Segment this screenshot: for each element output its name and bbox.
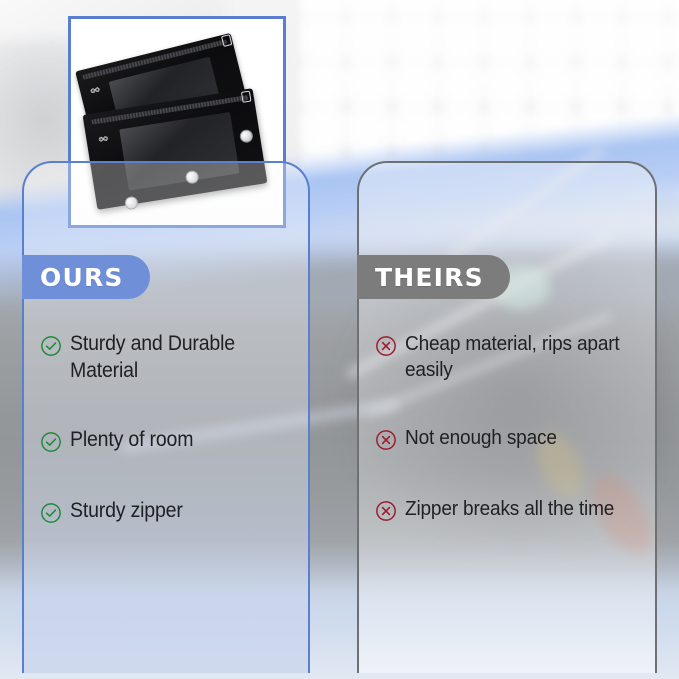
badge-ours: OURS [22, 255, 150, 299]
cross-circle-icon [375, 429, 397, 451]
check-circle-icon [40, 431, 62, 453]
feature-item: Sturdy and Durable Material [40, 331, 298, 385]
brand-logo-back: ❂❂ [90, 86, 100, 95]
feature-item: Not enough space [375, 425, 645, 451]
feature-item: Sturdy zipper [40, 498, 298, 525]
check-circle-icon [40, 502, 62, 524]
feature-label: Not enough space [405, 425, 557, 451]
zipper-pull-front [241, 91, 252, 103]
brand-logo-front: ❂❂ [98, 135, 108, 143]
feature-label: Plenty of room [70, 427, 193, 454]
comparison-card-theirs: THEIRS Cheap material, rips apart easily [357, 161, 657, 673]
cross-circle-icon [375, 335, 397, 357]
zipper-pull-back [221, 34, 232, 47]
feature-label: Zipper breaks all the time [405, 496, 614, 522]
feature-item: Cheap material, rips apart easily [375, 331, 645, 383]
comparison-infographic: ❂❂ ❂❂ OURS Sturdy and Du [0, 0, 679, 679]
check-circle-icon [40, 335, 62, 357]
badge-ours-label: OURS [40, 263, 124, 292]
feature-list-ours: Sturdy and Durable Material Plenty of ro… [40, 331, 298, 525]
feature-item: Plenty of room [40, 427, 298, 454]
feature-label: Sturdy and Durable Material [70, 331, 282, 385]
comparison-card-ours: OURS Sturdy and Durable Material [22, 161, 310, 673]
grommet-right [239, 129, 254, 144]
feature-label: Cheap material, rips apart easily [405, 331, 628, 383]
feature-list-theirs: Cheap material, rips apart easily Not en… [375, 331, 645, 522]
feature-item: Zipper breaks all the time [375, 496, 645, 522]
badge-theirs: THEIRS [357, 255, 510, 299]
feature-label: Sturdy zipper [70, 498, 183, 525]
cross-circle-icon [375, 500, 397, 522]
badge-theirs-label: THEIRS [375, 263, 484, 292]
